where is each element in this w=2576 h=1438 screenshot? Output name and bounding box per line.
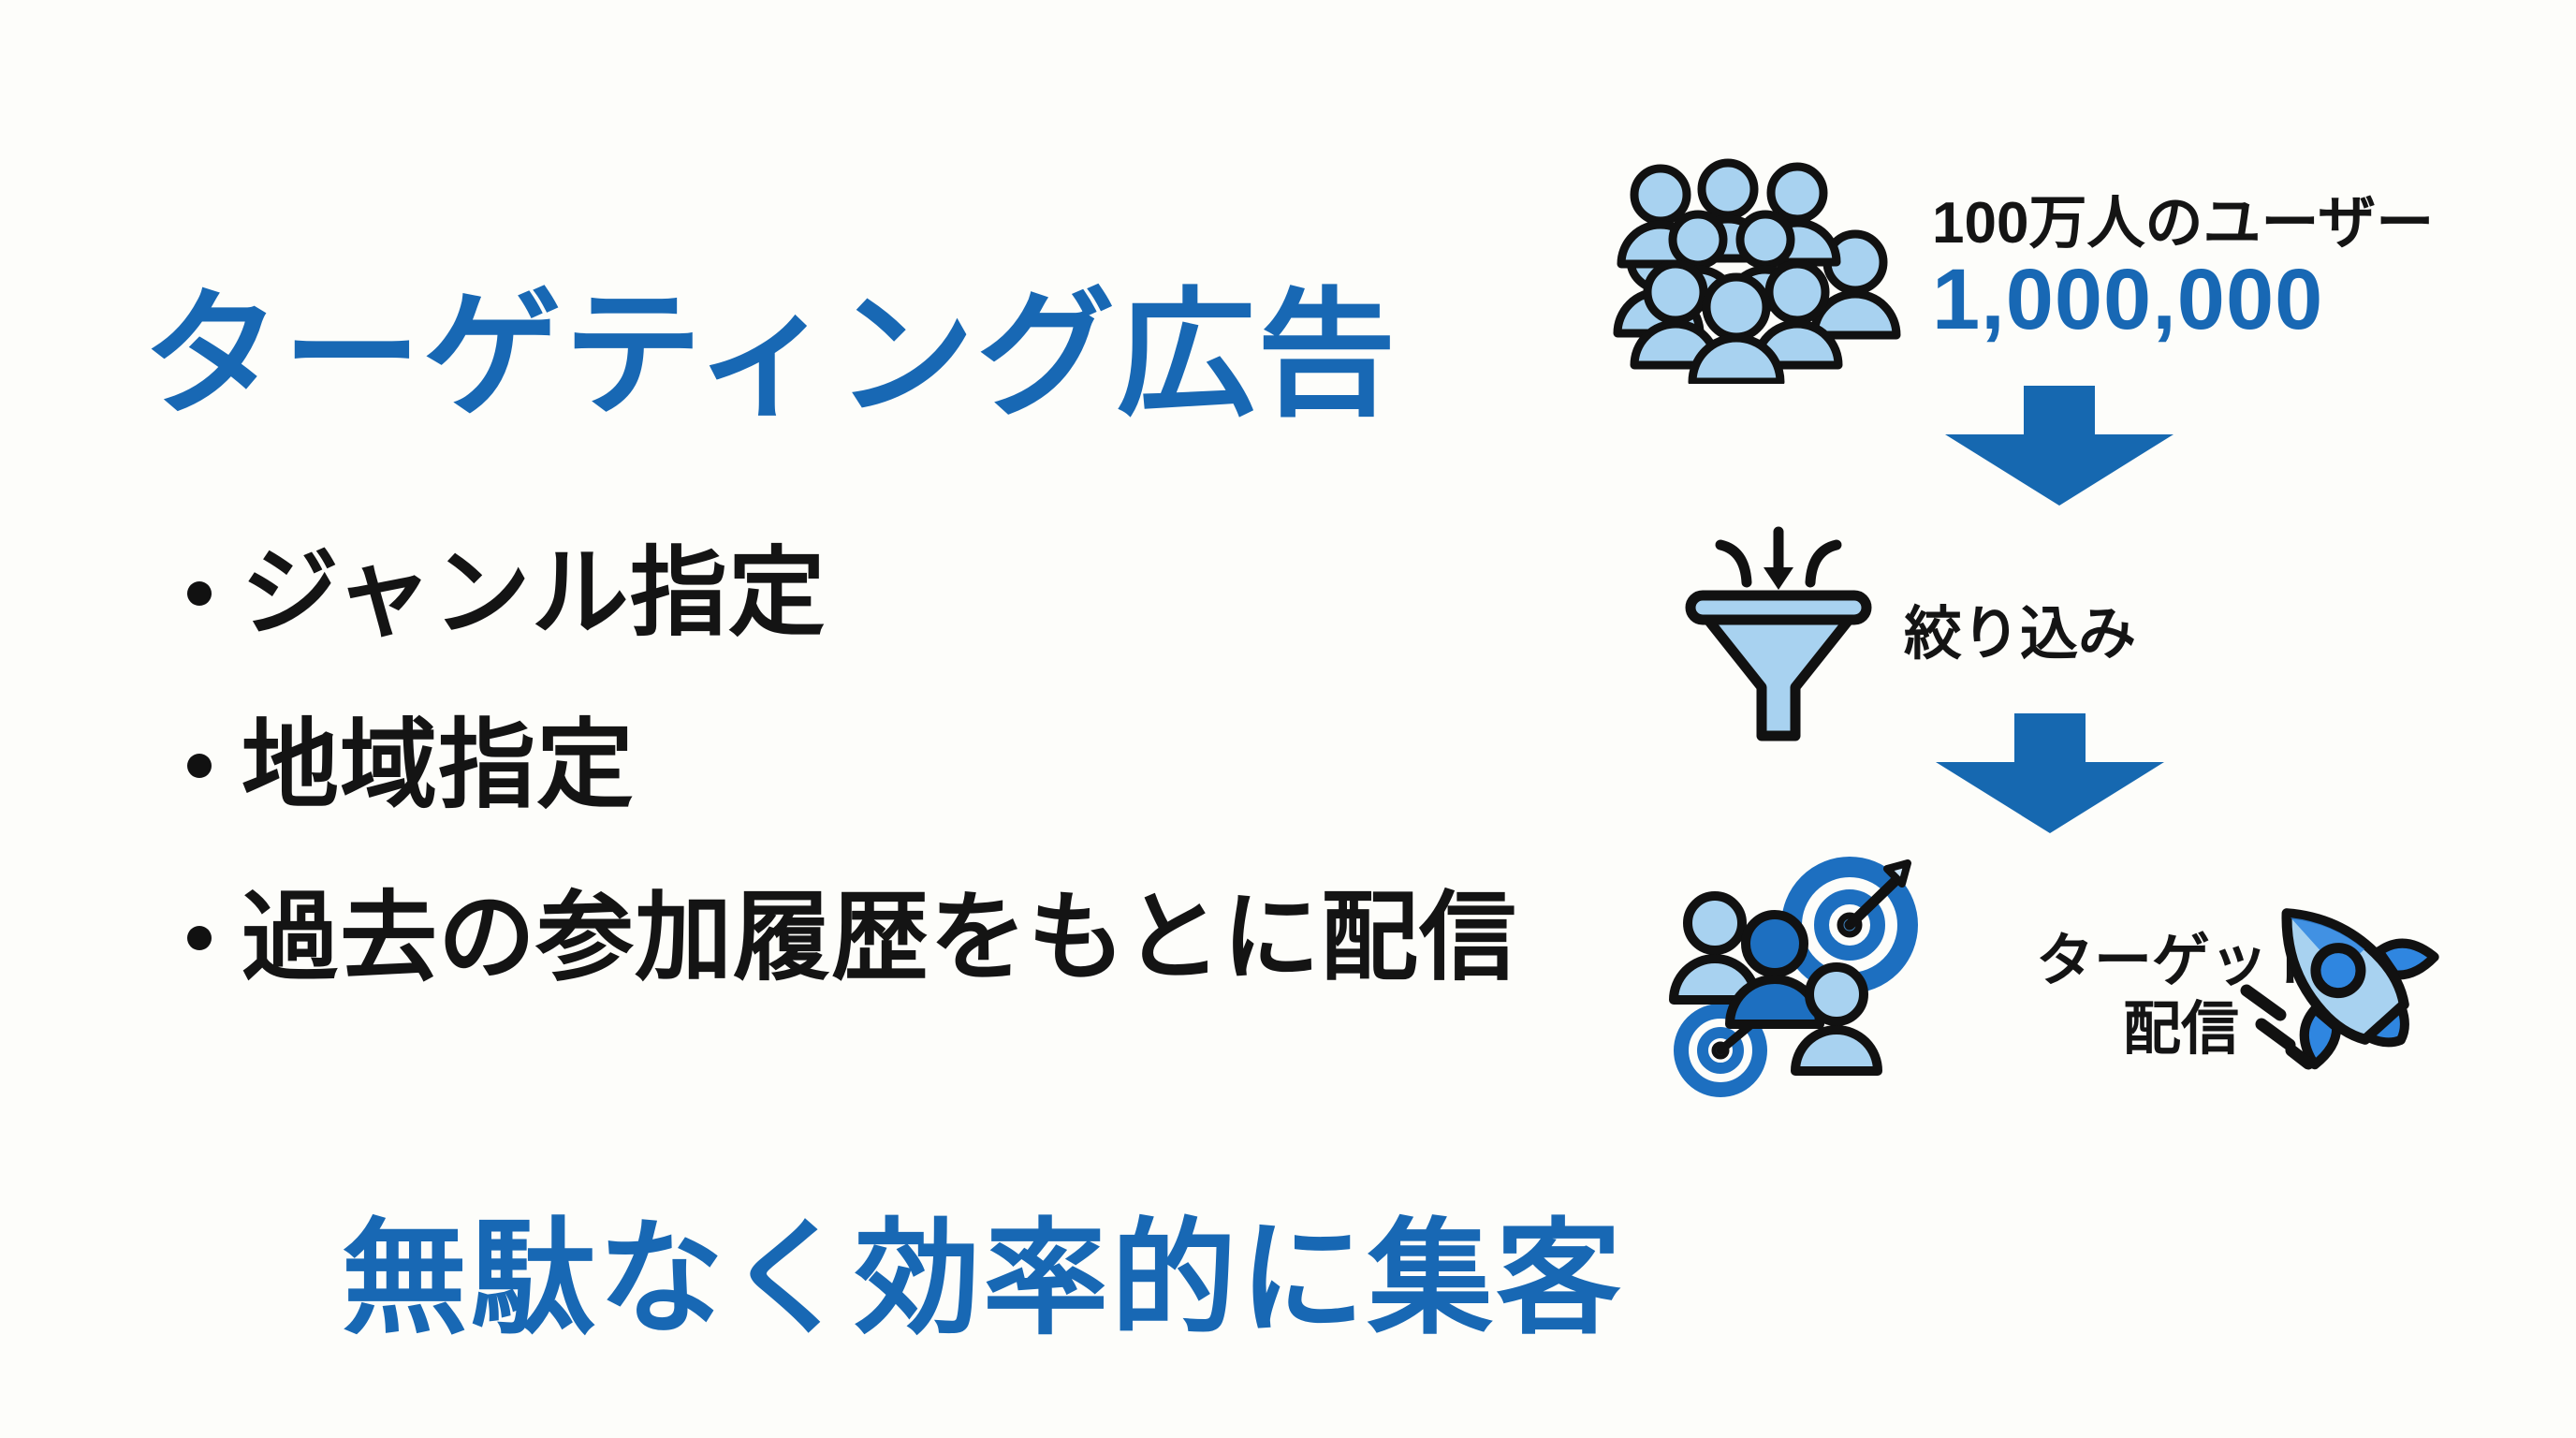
list-item-label: 地域指定 — [241, 717, 635, 814]
audience-labels: 100万人のユーザー 1,000,000 — [1932, 193, 2434, 345]
bullet-dot-icon — [187, 754, 212, 778]
slide-canvas: ターゲティング広告 ジャンル指定 地域指定 過去の参加履歴をもとに配信 無駄なく… — [0, 0, 2576, 1438]
targeted-people-icon — [1666, 852, 1947, 1109]
tagline-text: 無駄なく効率的に集客 — [0, 1217, 1966, 1343]
bullet-dot-icon — [187, 926, 212, 950]
list-item: 過去の参加履歴をもとに配信 — [187, 878, 1516, 998]
funnel-icon — [1676, 515, 1881, 754]
left-content-column: ターゲティング広告 ジャンル指定 地域指定 過去の参加履歴をもとに配信 — [0, 0, 1535, 1170]
rocket-icon — [2237, 880, 2462, 1091]
filter-labels: 絞り込み — [1904, 600, 2136, 668]
page-title: ターゲティング広告 — [142, 286, 1398, 425]
list-item: 地域指定 — [187, 706, 1516, 826]
targeting-funnel-diagram: 100万人のユーザー 1,000,000 — [1591, 140, 2527, 1180]
down-arrow-icon — [1928, 713, 2172, 840]
bullet-dot-icon — [187, 581, 212, 606]
diagram-step-target — [1666, 852, 1947, 1109]
audience-count: 1,000,000 — [1932, 255, 2434, 345]
down-arrow-icon — [1938, 386, 2181, 512]
diagram-step-audience: 100万人のユーザー 1,000,000 — [1601, 150, 2434, 389]
list-item-label: ジャンル指定 — [241, 545, 827, 642]
crowd-of-people-icon — [1601, 150, 1910, 389]
feature-bullet-list: ジャンル指定 地域指定 過去の参加履歴をもとに配信 — [187, 534, 1516, 1050]
list-item-label: 過去の参加履歴をもとに配信 — [241, 889, 1517, 987]
list-item: ジャンル指定 — [187, 534, 1516, 653]
audience-label: 100万人のユーザー — [1932, 193, 2434, 255]
filter-label: 絞り込み — [1904, 600, 2136, 668]
